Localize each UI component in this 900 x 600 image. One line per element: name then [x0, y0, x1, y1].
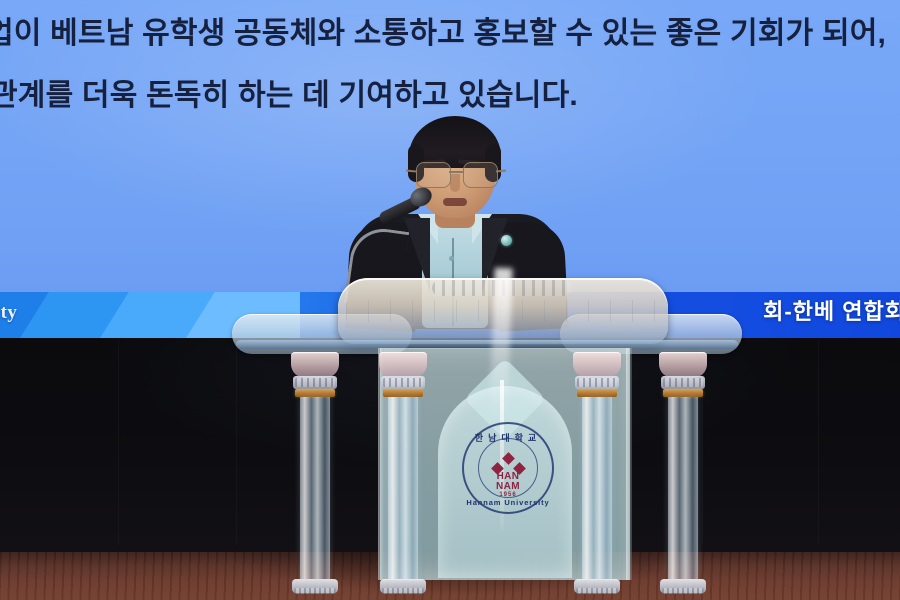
lectern-podium: 한남대학교 HAN NAM 1956 Hannam University: [0, 0, 900, 600]
column-shaft: [388, 397, 418, 579]
column-base-ring: [294, 588, 336, 594]
podium-scroll-ornament: [432, 280, 572, 296]
photo-scene: 업이 베트남 유학생 공동체와 소통하고 홍보할 수 있는 좋은 기회가 되어,…: [0, 0, 900, 600]
podium-body-edge-right: [626, 348, 632, 580]
emblem-word-nam: NAM: [496, 481, 520, 492]
hannam-university-emblem: 한남대학교 HAN NAM 1956 Hannam University: [462, 422, 554, 514]
column-base-ring: [382, 588, 424, 594]
column-capital: [659, 352, 707, 378]
column-base-ring: [662, 588, 704, 594]
column-gold-band: [577, 389, 617, 397]
column-shaft: [668, 397, 698, 579]
column-gold-band: [383, 389, 423, 397]
column-capital-ornament: [295, 378, 335, 387]
column-shaft: [300, 397, 330, 579]
column-shaft: [582, 397, 612, 579]
column-capital: [379, 352, 427, 378]
column-base-ring: [576, 588, 618, 594]
emblem-korean-name: 한남대학교: [464, 431, 552, 444]
column-capital-ornament: [383, 378, 423, 387]
column-capital: [573, 352, 621, 378]
emblem-wordmark: HAN NAM: [464, 472, 552, 491]
podium-desktop-ridges: [346, 300, 660, 322]
column-capital-ornament: [577, 378, 617, 387]
emblem-english-name: Hannam University: [464, 498, 552, 507]
column-gold-band: [295, 389, 335, 397]
column-capital: [291, 352, 339, 378]
column-capital-ornament: [663, 378, 703, 387]
column-gold-band: [663, 389, 703, 397]
